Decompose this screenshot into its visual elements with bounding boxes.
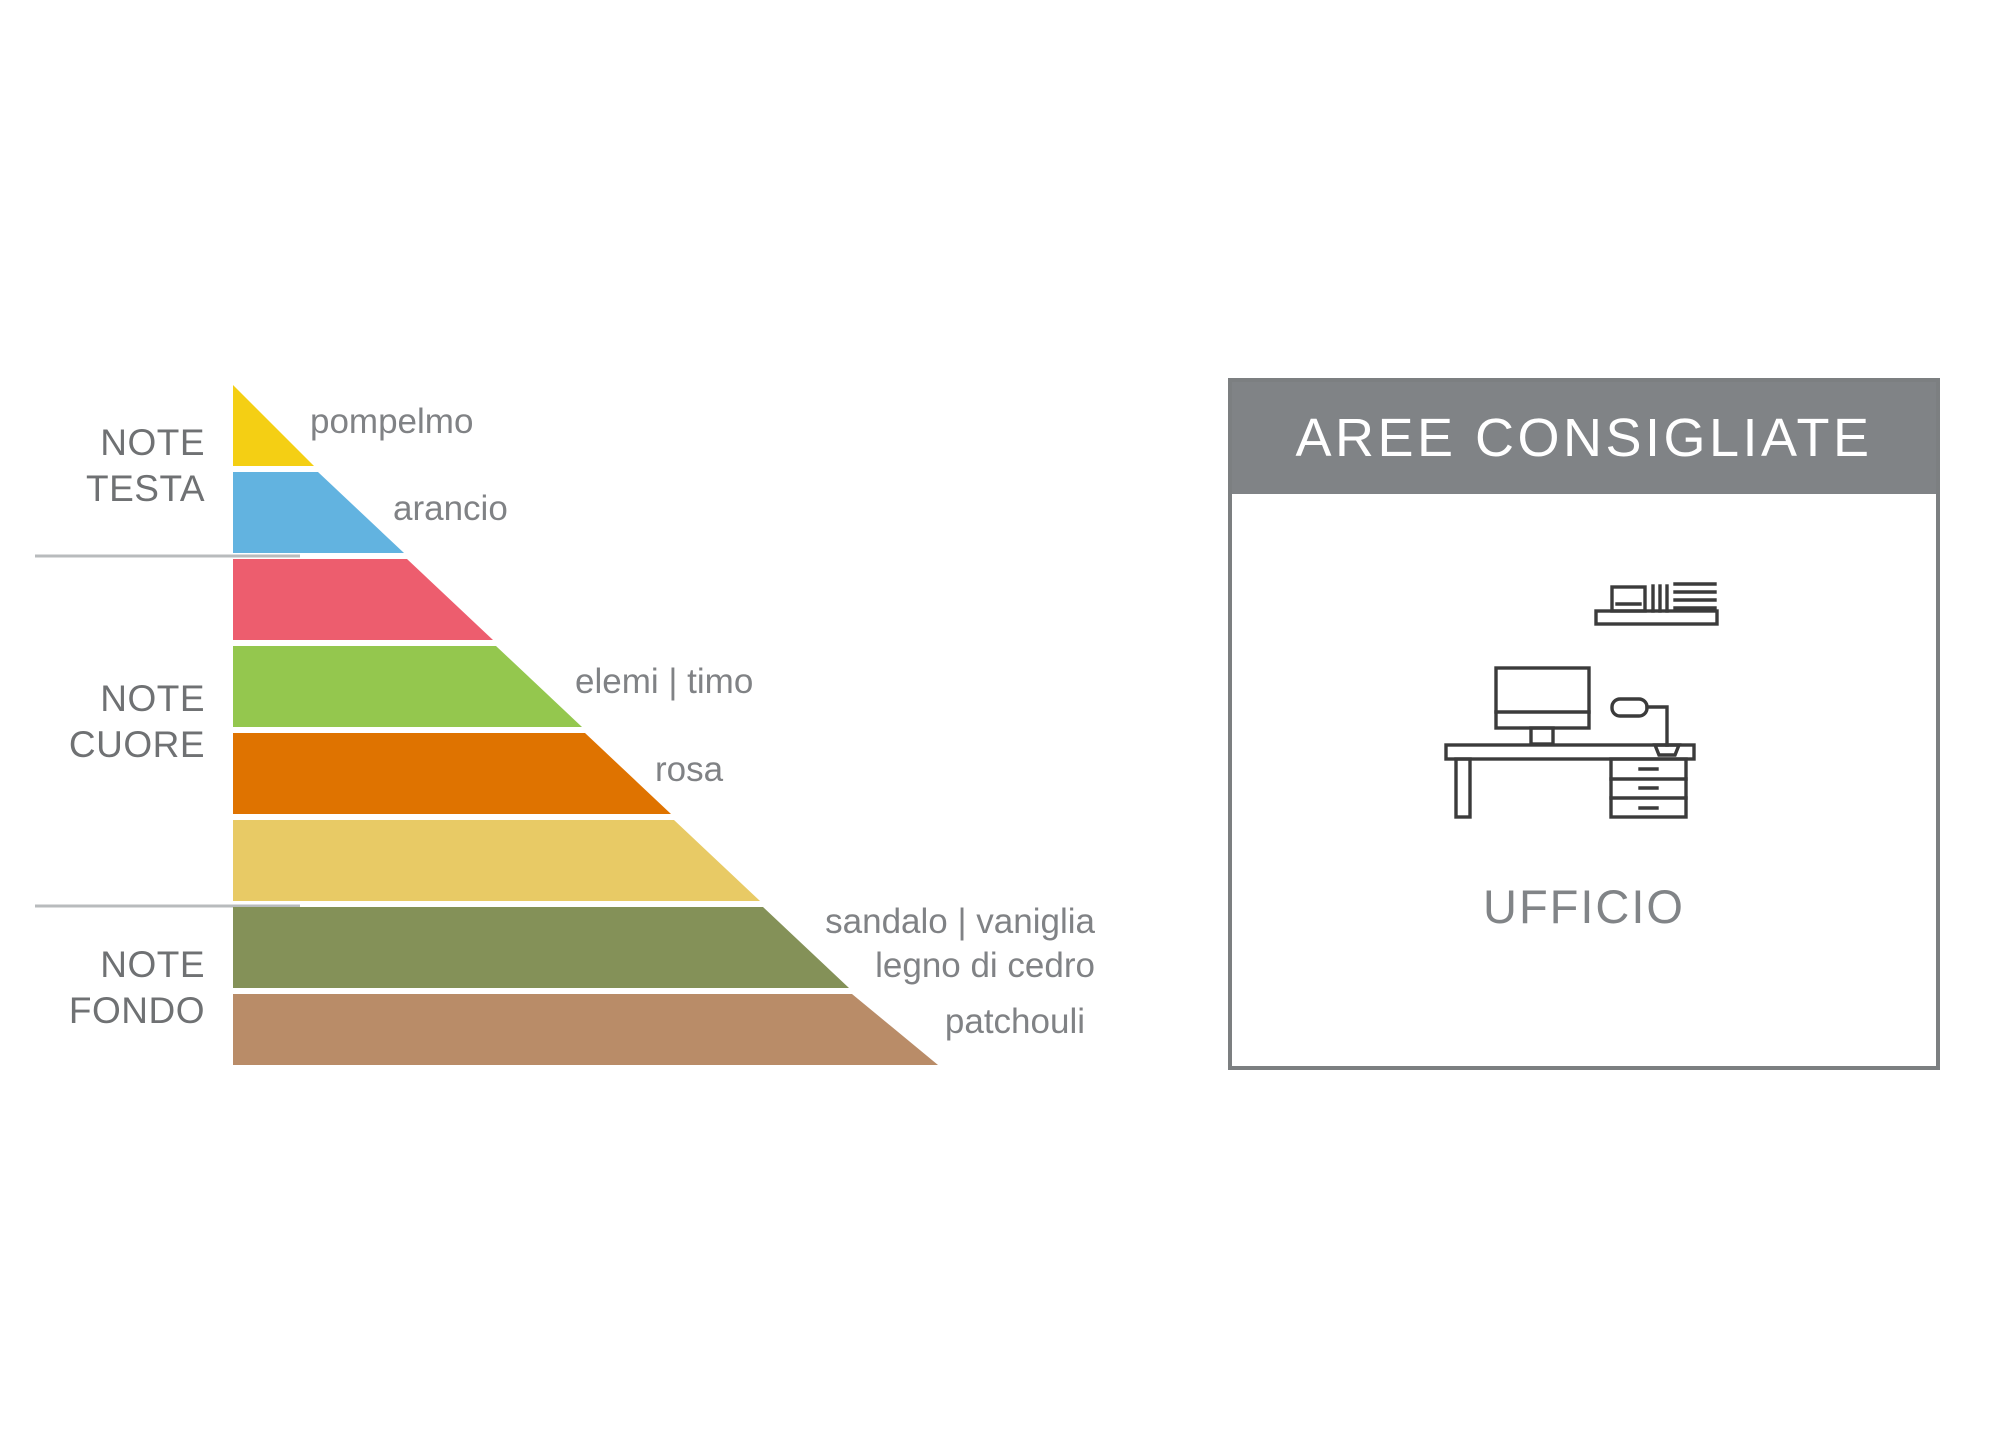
office-desk-icon-svg: [1434, 570, 1734, 820]
pyramid-band-rosa: [233, 733, 671, 814]
pyramid-band-pink: [233, 559, 493, 640]
aree-consigliate-title: AREE CONSIGLIATE: [1295, 407, 1872, 469]
desk-left-leg: [1456, 759, 1470, 817]
group-label-note-testa: NOTE TESTA: [20, 420, 205, 512]
shelf-laptop: [1612, 587, 1645, 611]
olfactory-pyramid-panel: NOTE TESTA NOTE CUORE NOTE FONDO pompelm…: [0, 0, 1150, 1444]
aree-consigliate-body: UFFICIO: [1232, 494, 1936, 1066]
note-label-arancio: arancio: [393, 487, 508, 531]
lamp-arm: [1647, 707, 1667, 745]
lamp-head: [1612, 699, 1647, 716]
aree-consigliate-card: AREE CONSIGLIATE: [1228, 378, 1940, 1070]
pyramid-band-pompelmo: [233, 385, 314, 466]
monitor-neck: [1531, 728, 1553, 744]
pyramid-band-arancio: [233, 472, 404, 553]
note-label-elemi-timo: elemi | timo: [575, 660, 753, 704]
note-label-patchouli: patchouli: [560, 1000, 1085, 1044]
note-label-sandalo-vaniglia: sandalo | vaniglia legno di cedro: [560, 900, 1095, 988]
office-desk-icon: [1434, 570, 1734, 825]
pyramid-band-elemi-timo: [233, 646, 582, 727]
group-label-note-fondo: NOTE FONDO: [20, 942, 205, 1034]
pyramid-band-gold: [233, 820, 760, 901]
group-label-note-cuore: NOTE CUORE: [20, 676, 205, 768]
aree-consigliate-header: AREE CONSIGLIATE: [1232, 382, 1936, 494]
note-label-pompelmo: pompelmo: [310, 400, 473, 444]
shelf-board: [1596, 611, 1717, 624]
area-name-label: UFFICIO: [1483, 879, 1685, 934]
note-label-rosa: rosa: [655, 748, 723, 792]
monitor-screen: [1496, 668, 1589, 728]
